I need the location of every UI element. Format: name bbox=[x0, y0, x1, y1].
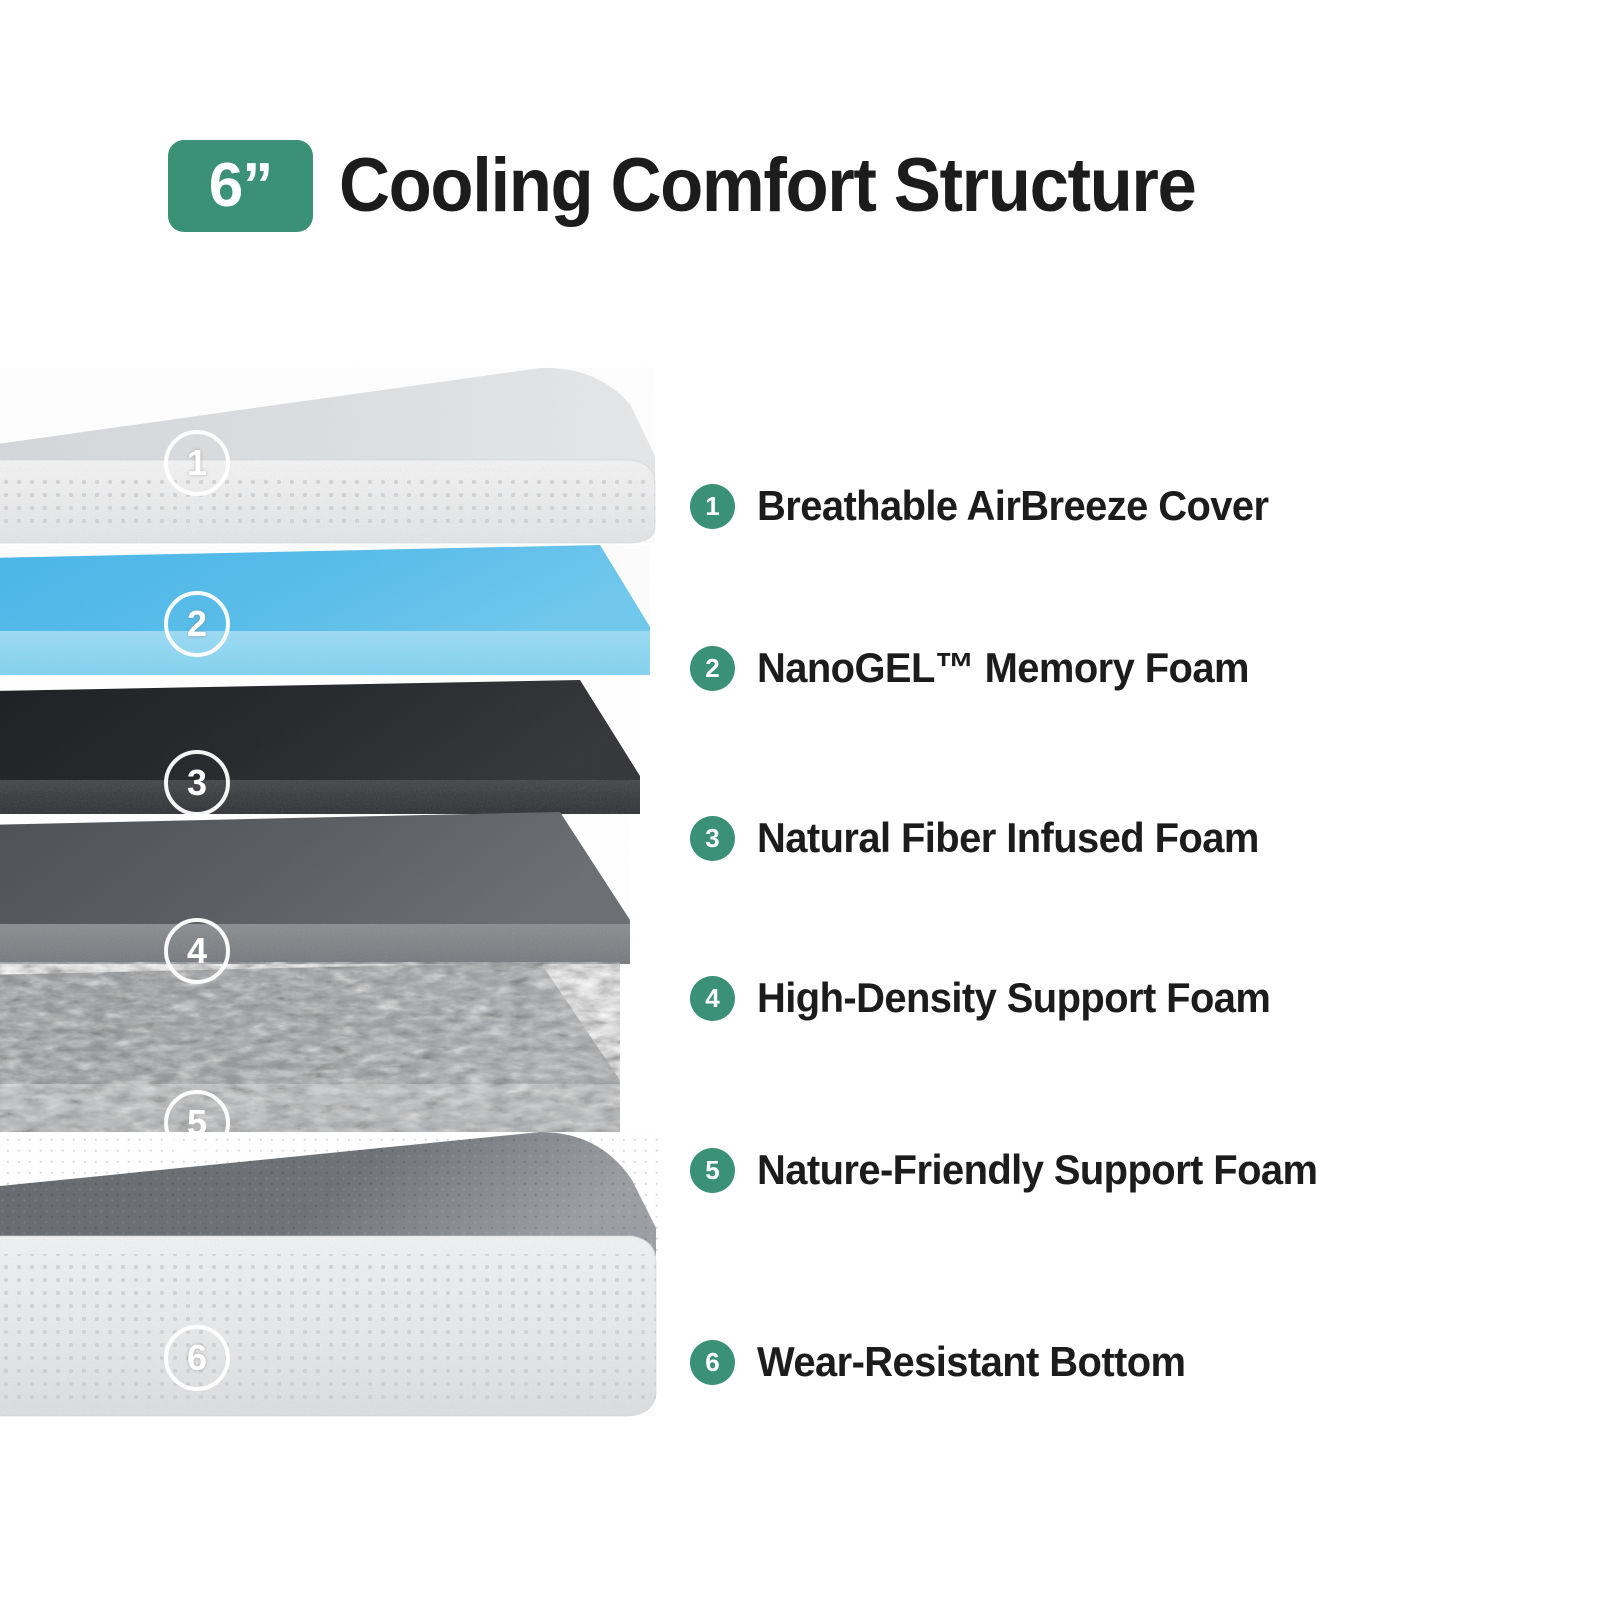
size-badge: 6” bbox=[168, 140, 313, 232]
page-title: Cooling Comfort Structure bbox=[339, 148, 1195, 224]
mattress-layer-1 bbox=[0, 360, 700, 560]
legend-label-2: NanoGEL™ Memory Foam bbox=[757, 647, 1249, 689]
legend-item-6[interactable]: 6 Wear-Resistant Bottom bbox=[690, 1332, 1208, 1392]
legend-item-4[interactable]: 4 High-Density Support Foam bbox=[690, 968, 1297, 1028]
legend-badge-6: 6 bbox=[690, 1340, 735, 1385]
legend-item-5[interactable]: 5 Nature-Friendly Support Foam bbox=[690, 1140, 1347, 1200]
legend-badge-4: 4 bbox=[690, 976, 735, 1021]
legend-label-3: Natural Fiber Infused Foam bbox=[757, 817, 1259, 859]
infographic-canvas: 6” Cooling Comfort Structure bbox=[0, 0, 1600, 1600]
legend-label-5: Nature-Friendly Support Foam bbox=[757, 1149, 1317, 1191]
legend-badge-3: 3 bbox=[690, 816, 735, 861]
page-header: 6” Cooling Comfort Structure bbox=[168, 140, 1260, 232]
legend-item-1[interactable]: 1 Breathable AirBreeze Cover bbox=[690, 476, 1295, 536]
legend-label-6: Wear-Resistant Bottom bbox=[757, 1341, 1185, 1383]
legend-badge-5: 5 bbox=[690, 1148, 735, 1193]
mattress-layer-6 bbox=[0, 1132, 700, 1472]
legend-badge-1: 1 bbox=[690, 484, 735, 529]
legend-item-2[interactable]: 2 NanoGEL™ Memory Foam bbox=[690, 638, 1275, 698]
mattress-layer-stack: 1 2 3 4 5 6 bbox=[0, 360, 700, 1480]
legend-item-3[interactable]: 3 Natural Fiber Infused Foam bbox=[690, 808, 1285, 868]
legend-label-1: Breathable AirBreeze Cover bbox=[757, 485, 1268, 527]
legend-label-4: High-Density Support Foam bbox=[757, 977, 1270, 1019]
legend-badge-2: 2 bbox=[690, 646, 735, 691]
